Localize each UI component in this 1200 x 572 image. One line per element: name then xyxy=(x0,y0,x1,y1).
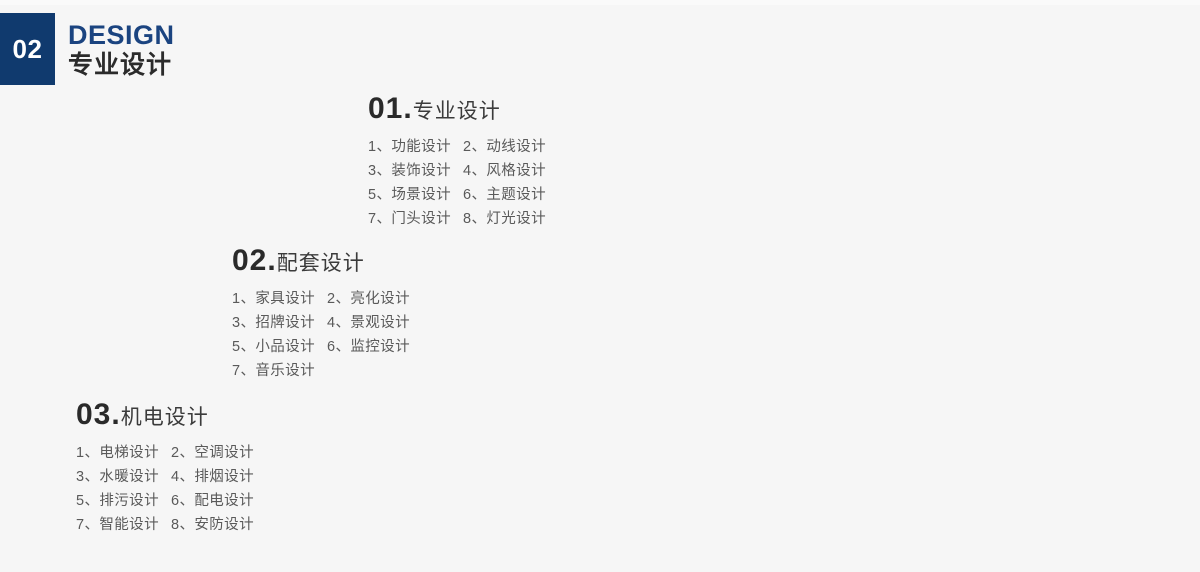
item-row: 1、功能设计2、动线设计 xyxy=(368,135,546,159)
item-label: 5、小品设计 xyxy=(232,335,327,359)
header-title-group: DESIGN 专业设计 xyxy=(68,13,175,85)
item-label: 1、功能设计 xyxy=(368,135,463,159)
item-row: 5、排污设计6、配电设计 xyxy=(76,489,254,513)
section-item-list: 1、电梯设计2、空调设计3、水暖设计4、排烟设计5、排污设计6、配电设计7、智能… xyxy=(76,441,254,537)
section-title: 配套设计 xyxy=(277,252,365,275)
item-label: 6、监控设计 xyxy=(327,335,410,359)
item-label: 3、装饰设计 xyxy=(368,159,463,183)
item-label: 2、空调设计 xyxy=(171,441,254,465)
section-item-list: 1、功能设计2、动线设计3、装饰设计4、风格设计5、场景设计6、主题设计7、门头… xyxy=(368,135,546,231)
item-row: 7、音乐设计 xyxy=(232,359,410,383)
section-heading: 03.机电设计 xyxy=(76,398,254,432)
item-row: 1、家具设计2、亮化设计 xyxy=(232,287,410,311)
section-heading: 02.配套设计 xyxy=(232,244,410,278)
content-section-03: 03.机电设计 1、电梯设计2、空调设计3、水暖设计4、排烟设计5、排污设计6、… xyxy=(76,398,254,537)
item-row: 3、水暖设计4、排烟设计 xyxy=(76,465,254,489)
slide-header: 02 DESIGN 专业设计 xyxy=(0,13,175,85)
item-label: 6、主题设计 xyxy=(463,183,546,207)
section-title: 机电设计 xyxy=(121,406,209,429)
section-number: 02. xyxy=(232,244,277,277)
item-label: 3、招牌设计 xyxy=(232,311,327,335)
item-label: 8、灯光设计 xyxy=(463,207,546,231)
item-label: 1、电梯设计 xyxy=(76,441,171,465)
item-label: 4、排烟设计 xyxy=(171,465,254,489)
item-label: 4、景观设计 xyxy=(327,311,410,335)
page-title-english: DESIGN xyxy=(68,20,175,50)
item-label: 5、场景设计 xyxy=(368,183,463,207)
section-number: 03. xyxy=(76,398,121,431)
section-number-badge: 02 xyxy=(0,13,55,85)
item-label: 6、配电设计 xyxy=(171,489,254,513)
content-section-02: 02.配套设计 1、家具设计2、亮化设计3、招牌设计4、景观设计5、小品设计6、… xyxy=(232,244,410,383)
content-section-01: 01.专业设计 1、功能设计2、动线设计3、装饰设计4、风格设计5、场景设计6、… xyxy=(368,92,546,231)
slide-canvas: 02 DESIGN 专业设计 01.专业设计 1、功能设计2、动线设计3、装饰设… xyxy=(0,0,1200,572)
item-row: 7、门头设计8、灯光设计 xyxy=(368,207,546,231)
page-title-chinese: 专业设计 xyxy=(68,50,175,80)
item-label: 7、音乐设计 xyxy=(232,359,327,383)
top-hairline-strip xyxy=(0,0,1200,5)
item-row: 1、电梯设计2、空调设计 xyxy=(76,441,254,465)
section-number: 01. xyxy=(368,92,413,125)
item-label: 5、排污设计 xyxy=(76,489,171,513)
item-row: 7、智能设计8、安防设计 xyxy=(76,513,254,537)
item-label: 7、门头设计 xyxy=(368,207,463,231)
section-heading: 01.专业设计 xyxy=(368,92,546,126)
section-item-list: 1、家具设计2、亮化设计3、招牌设计4、景观设计5、小品设计6、监控设计7、音乐… xyxy=(232,287,410,383)
item-row: 5、场景设计6、主题设计 xyxy=(368,183,546,207)
item-row: 3、招牌设计4、景观设计 xyxy=(232,311,410,335)
item-label: 8、安防设计 xyxy=(171,513,254,537)
item-label: 2、亮化设计 xyxy=(327,287,410,311)
item-row: 5、小品设计6、监控设计 xyxy=(232,335,410,359)
item-label: 7、智能设计 xyxy=(76,513,171,537)
item-row: 3、装饰设计4、风格设计 xyxy=(368,159,546,183)
item-label: 1、家具设计 xyxy=(232,287,327,311)
item-label: 2、动线设计 xyxy=(463,135,546,159)
item-label: 3、水暖设计 xyxy=(76,465,171,489)
item-label: 4、风格设计 xyxy=(463,159,546,183)
section-title: 专业设计 xyxy=(413,100,501,123)
